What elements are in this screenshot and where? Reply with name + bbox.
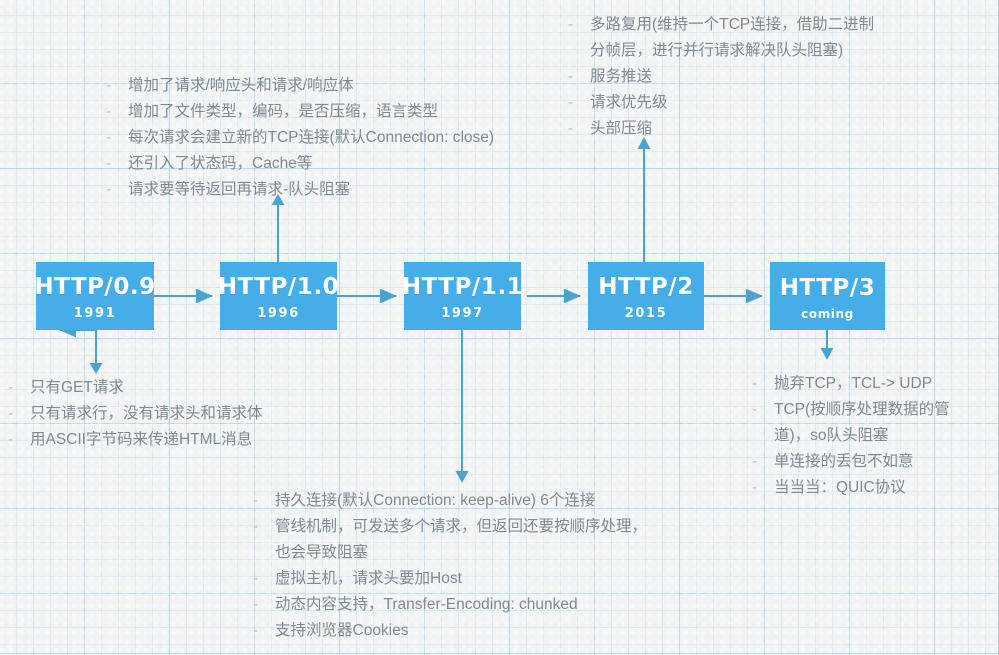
note-text: 请求优先级: [590, 90, 668, 116]
note-dash: -: [568, 64, 590, 90]
node-http09-title: HTTP/0.9: [34, 276, 155, 299]
node-http10[interactable]: HTTP/1.0 1996: [220, 262, 337, 330]
note-line: - 管线机制，可发送多个请求，但返回还要按顺序处理，: [253, 514, 647, 540]
note-dash: -: [253, 488, 275, 514]
note-line: - 用ASCII字节码来传递HTML消息: [8, 427, 263, 453]
node-http2-title: HTTP/2: [598, 276, 693, 299]
note-dash: -: [253, 514, 275, 540]
note-line: - 只有GET请求: [8, 375, 263, 401]
arrow-http09-note-shaft: [90, 330, 103, 374]
note-line: - 持久连接(默认Connection: keep-alive) 6个连接: [253, 488, 647, 514]
arrow-http3-to-note: [821, 330, 834, 360]
note-text: 抛弃TCP，TCL-> UDP: [774, 371, 932, 397]
note-dash: -: [8, 375, 30, 401]
note-dash: -: [752, 449, 774, 475]
node-http11-year: 1997: [441, 307, 484, 320]
note-text: 虚拟主机，请求头要加Host: [275, 566, 462, 592]
note-line: - 增加了请求/响应头和请求/响应体: [106, 73, 494, 99]
note-text: 服务推送: [590, 64, 652, 90]
note-line-continuation: 分帧层，进行并行请求解决队头阻塞): [568, 38, 874, 64]
node-http09[interactable]: HTTP/0.9 1991: [36, 262, 154, 330]
note-text: 增加了文件类型，编码，是否压缩，语言类型: [128, 99, 438, 125]
note-dash: -: [106, 73, 128, 99]
note-line: - 增加了文件类型，编码，是否压缩，语言类型: [106, 99, 494, 125]
note-text: 当当当：QUIC协议: [774, 475, 906, 501]
note-line: - 还引入了状态码，Cache等: [106, 151, 494, 177]
note-http09: - 只有GET请求 - 只有请求行，没有请求头和请求体 - 用ASCII字节码来…: [8, 375, 263, 453]
note-http3: - 抛弃TCP，TCL-> UDP - TCP(按顺序处理数据的管 道)，so队…: [752, 371, 950, 501]
note-text: 用ASCII字节码来传递HTML消息: [30, 427, 252, 453]
note-line: - 请求优先级: [568, 90, 874, 116]
arrow-http11-to-note: [456, 330, 469, 483]
note-line: - 多路复用(维持一个TCP连接，借助二进制: [568, 12, 874, 38]
note-text: 也会导致阻塞: [275, 540, 368, 566]
note-dash: -: [106, 177, 128, 203]
note-dash: -: [8, 427, 30, 453]
note-text: 道)，so队头阻塞: [774, 423, 889, 449]
note-dash: -: [752, 371, 774, 397]
note-dash: -: [752, 397, 774, 423]
note-line: - 动态内容支持，Transfer-Encoding: chunked: [253, 592, 647, 618]
note-line: - 服务推送: [568, 64, 874, 90]
note-text: 只有GET请求: [30, 375, 124, 401]
note-text: 请求要等待返回再请求-队头阻塞: [128, 177, 350, 203]
node-http2[interactable]: HTTP/2 2015: [588, 262, 704, 330]
note-text: TCP(按顺序处理数据的管: [774, 397, 950, 423]
note-dash: -: [568, 116, 590, 142]
note-line-continuation: 道)，so队头阻塞: [752, 423, 950, 449]
note-text: 只有请求行，没有请求头和请求体: [30, 401, 263, 427]
note-line: - 单连接的丢包不如意: [752, 449, 950, 475]
note-dash: -: [8, 401, 30, 427]
arrow-http2-to-note: [638, 137, 651, 262]
note-line: - 支持浏览器Cookies: [253, 618, 647, 644]
note-text: 单连接的丢包不如意: [774, 449, 914, 475]
node-http10-title: HTTP/1.0: [218, 276, 339, 299]
note-text: 多路复用(维持一个TCP连接，借助二进制: [590, 12, 874, 38]
note-dash: -: [568, 12, 590, 38]
note-http2: - 多路复用(维持一个TCP连接，借助二进制 分帧层，进行并行请求解决队头阻塞)…: [568, 12, 874, 142]
note-line: - TCP(按顺序处理数据的管: [752, 397, 950, 423]
node-http3[interactable]: HTTP/3 coming: [770, 262, 885, 330]
note-text: 支持浏览器Cookies: [275, 618, 409, 644]
note-text: 动态内容支持，Transfer-Encoding: chunked: [275, 592, 578, 618]
note-line: - 虚拟主机，请求头要加Host: [253, 566, 647, 592]
note-dash: -: [106, 125, 128, 151]
note-dash: -: [253, 592, 275, 618]
diagram-canvas: HTTP/0.9 1991 HTTP/1.0 1996 HTTP/1.1 199…: [0, 0, 999, 655]
note-dash: -: [568, 90, 590, 116]
note-text: 增加了请求/响应头和请求/响应体: [128, 73, 354, 99]
note-line-continuation: 也会导致阻塞: [253, 540, 647, 566]
node-http10-year: 1996: [257, 307, 300, 320]
note-text: 还引入了状态码，Cache等: [128, 151, 312, 177]
note-dash: -: [106, 151, 128, 177]
node-http09-year: 1991: [74, 307, 117, 320]
note-http11: - 持久连接(默认Connection: keep-alive) 6个连接 - …: [253, 488, 647, 644]
node-http2-year: 2015: [625, 307, 668, 320]
note-line: - 头部压缩: [568, 116, 874, 142]
note-text: 分帧层，进行并行请求解决队头阻塞): [590, 38, 843, 64]
note-line: - 抛弃TCP，TCL-> UDP: [752, 371, 950, 397]
note-line: - 当当当：QUIC协议: [752, 475, 950, 501]
note-text: 管线机制，可发送多个请求，但返回还要按顺序处理，: [275, 514, 647, 540]
node-http3-title: HTTP/3: [780, 277, 875, 300]
note-text: 持久连接(默认Connection: keep-alive) 6个连接: [275, 488, 595, 514]
node-http3-status: coming: [801, 308, 854, 320]
note-line: - 只有请求行，没有请求头和请求体: [8, 401, 263, 427]
note-text: 头部压缩: [590, 116, 652, 142]
node-http11[interactable]: HTTP/1.1 1997: [404, 262, 521, 330]
arrow-http10-to-note: [272, 194, 285, 262]
note-dash: -: [253, 618, 275, 644]
note-line: - 请求要等待返回再请求-队头阻塞: [106, 177, 494, 203]
note-http10: - 增加了请求/响应头和请求/响应体 - 增加了文件类型，编码，是否压缩，语言类…: [106, 73, 494, 203]
note-text: 每次请求会建立新的TCP连接(默认Connection: close): [128, 125, 494, 151]
node-http11-title: HTTP/1.1: [402, 276, 523, 299]
note-dash: -: [752, 475, 774, 501]
note-line: - 每次请求会建立新的TCP连接(默认Connection: close): [106, 125, 494, 151]
note-dash: -: [106, 99, 128, 125]
note-dash: -: [253, 566, 275, 592]
